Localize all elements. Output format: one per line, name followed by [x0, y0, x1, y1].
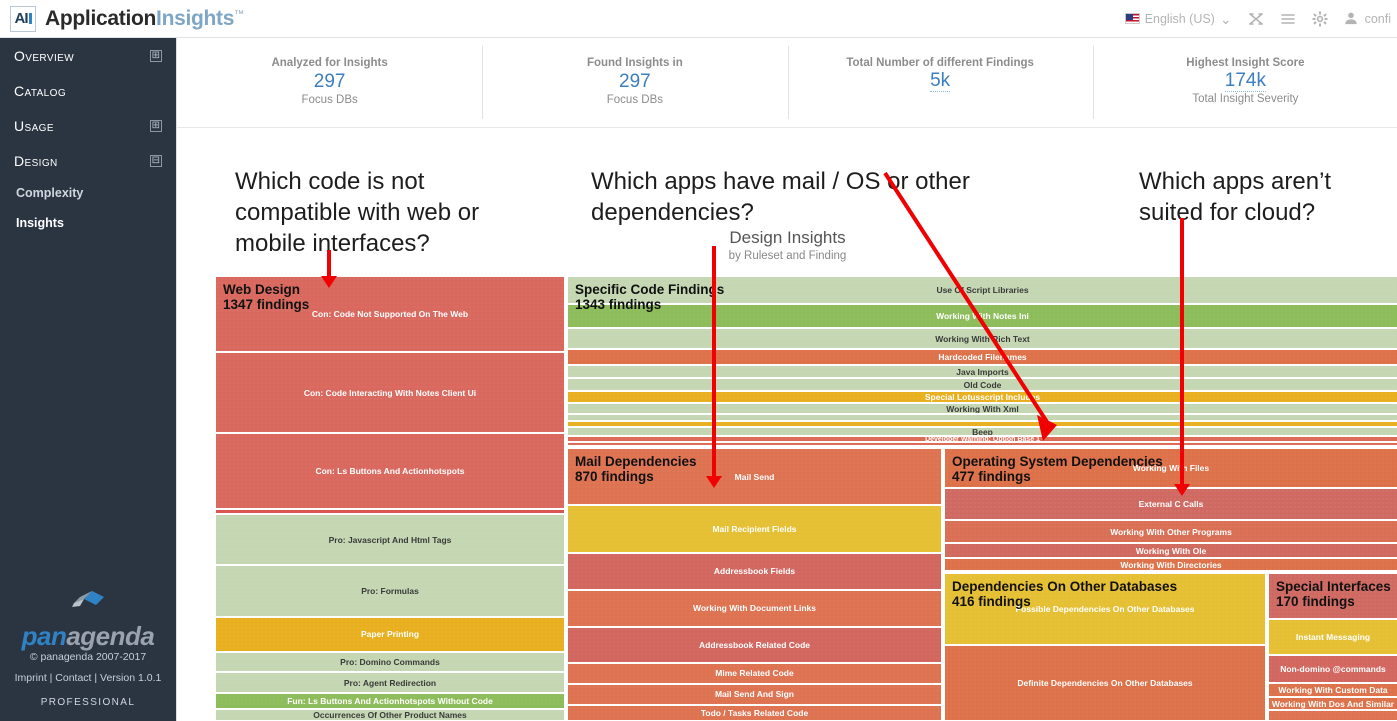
treemap-tile-label: Pro: Formulas — [361, 586, 419, 596]
treemap-tile-label: Pro: Agent Redirection — [344, 678, 436, 688]
treemap-tile-label: Non-domino @commands — [1280, 664, 1386, 674]
sidebar-item-complexity[interactable]: Complexity — [0, 178, 176, 208]
sidebar-item-catalog[interactable]: Catalog — [0, 73, 176, 108]
panagenda-logo-icon — [0, 588, 176, 622]
sidebar-item-design[interactable]: Design ⊟ — [0, 143, 176, 178]
logo-text-primary: Application — [45, 7, 156, 30]
kpi-highest-insight-score: Highest Insight Score 174k Total Insight… — [1093, 38, 1397, 127]
app-logo-icon: AI — [10, 6, 36, 32]
treemap-tile[interactable]: Working With Custom Data — [1268, 683, 1397, 697]
treemap-tile[interactable]: Working With Document Links — [567, 590, 942, 627]
edition-label: PROFESSIONAL — [0, 692, 176, 713]
us-flag-icon — [1125, 13, 1140, 24]
sidebar-item-label: Usage — [14, 118, 54, 134]
panagenda-wordmark: panagenda — [0, 626, 176, 647]
treemap-tile[interactable]: Non-domino @commands — [1268, 655, 1397, 683]
sidebar-item-insights[interactable]: Insights — [0, 208, 176, 238]
treemap-tile-label: Working With Custom Data — [1278, 685, 1387, 695]
treemap-tile-label: Working With Directories — [1120, 560, 1221, 570]
app-logo-text: ApplicationInsights™ — [45, 7, 244, 31]
language-label: English (US) — [1145, 12, 1215, 26]
kpi-value[interactable]: 297 — [177, 71, 482, 93]
kpi-row: Analyzed for Insights 297 Focus DBs Foun… — [177, 38, 1397, 128]
sidebar-item-overview[interactable]: Overview ⊞ — [0, 38, 176, 73]
treemap-tile[interactable]: Todo / Tasks Related Code — [567, 705, 942, 721]
treemap-tile-label: Mail Recipient Fields — [712, 524, 796, 534]
treemap-tile[interactable]: Pro: Formulas — [215, 565, 565, 617]
top-bar-actions: English (US) ⌄ confi — [1125, 11, 1397, 27]
kpi-title: Analyzed for Insights — [177, 57, 482, 69]
annotation-arrow-3 — [1170, 218, 1194, 496]
kpi-subtitle: Focus DBs — [482, 94, 787, 106]
treemap-tile[interactable]: Con: Code Not Supported On The Web — [215, 276, 565, 352]
footer-links[interactable]: Imprint | Contact | Version 1.0.1 — [0, 668, 176, 689]
treemap-tile-label: Con: Ls Buttons And Actionhotspots — [315, 466, 464, 476]
treemap-tile[interactable] — [1268, 710, 1397, 721]
user-label: confi — [1365, 12, 1391, 26]
kpi-value[interactable]: 5k — [930, 71, 950, 92]
treemap-tile[interactable]: Con: Code Interacting With Notes Client … — [215, 352, 565, 434]
treemap-tile[interactable] — [1268, 573, 1397, 619]
sidebar-item-label: Design — [14, 153, 58, 169]
treemap-tile[interactable]: Addressbook Fields — [567, 553, 942, 590]
kpi-subtitle: Total Insight Severity — [1093, 93, 1397, 105]
app-logo[interactable]: AI ApplicationInsights™ — [0, 6, 244, 32]
kpi-title: Total Number of different Findings — [788, 57, 1093, 69]
kpi-total-different-findings: Total Number of different Findings 5k — [788, 38, 1093, 127]
design-insights-treemap[interactable]: Con: Code Not Supported On The WebCon: C… — [215, 238, 1397, 721]
treemap-tile-label: Working With Document Links — [693, 603, 816, 613]
sidebar: Overview ⊞ Catalog Usage ⊞ Design ⊟ Comp… — [0, 38, 176, 721]
treemap-tile[interactable]: Pro: Agent Redirection — [215, 672, 565, 693]
treemap-tile-label: Instant Messaging — [1296, 632, 1370, 642]
treemap-tile[interactable]: Con: Ls Buttons And Actionhotspots — [215, 433, 565, 509]
logo-initials: AI — [15, 10, 28, 27]
treemap-tile[interactable]: Mail Recipient Fields — [567, 505, 942, 553]
kpi-found-insights-in: Found Insights in 297 Focus DBs — [482, 38, 787, 127]
treemap-tile-label: Mail Send — [735, 472, 775, 482]
language-selector[interactable]: English (US) ⌄ — [1125, 12, 1232, 26]
treemap-tile-label: Todo / Tasks Related Code — [701, 708, 808, 718]
treemap-tile-label: Working With Other Programs — [1110, 527, 1232, 537]
treemap-tile-label: Working With Ole — [1136, 546, 1207, 556]
treemap-tile[interactable]: Mail Send And Sign — [567, 684, 942, 705]
kpi-subtitle: Focus DBs — [177, 94, 482, 106]
shuffle-icon[interactable] — [1248, 11, 1264, 27]
main-content: Analyzed for Insights 297 Focus DBs Foun… — [176, 38, 1397, 721]
treemap-tile[interactable]: Working With Ole — [944, 543, 1397, 558]
kpi-value[interactable]: 174k — [1225, 71, 1266, 92]
sidebar-item-usage[interactable]: Usage ⊞ — [0, 108, 176, 143]
treemap-tile[interactable]: Definite Dependencies On Other Databases — [944, 645, 1266, 721]
treemap-tile[interactable]: Mime Related Code — [567, 663, 942, 684]
treemap-tile-label: Pro: Javascript And Html Tags — [329, 535, 452, 545]
treemap-tile[interactable]: Working With Directories — [944, 558, 1397, 571]
treemap-tile[interactable]: Pro: Domino Commands — [215, 652, 565, 673]
user-menu[interactable]: confi — [1344, 11, 1391, 27]
treemap-tile-label: Mime Related Code — [715, 668, 793, 678]
treemap-tile[interactable]: Mail Send — [567, 448, 942, 505]
expand-icon[interactable]: ⊞ — [150, 50, 162, 62]
treemap-tile[interactable]: Working With Dos And Similar — [1268, 697, 1397, 710]
collapse-icon[interactable]: ⊟ — [150, 155, 162, 167]
kpi-value[interactable]: 297 — [482, 71, 787, 93]
sidebar-footer: panagenda © panagenda 2007-2017 Imprint … — [0, 588, 176, 713]
treemap-tile-label: Mail Send And Sign — [715, 689, 794, 699]
kpi-title: Highest Insight Score — [1093, 57, 1397, 69]
kpi-analyzed-for-insights: Analyzed for Insights 297 Focus DBs — [177, 38, 482, 127]
treemap-tile[interactable]: Addressbook Related Code — [567, 627, 942, 663]
sidebar-item-label: Overview — [14, 48, 74, 64]
treemap-tile[interactable]: Occurrences Of Other Product Names — [215, 709, 565, 721]
logo-trademark: ™ — [234, 9, 244, 20]
treemap-tile-label: Con: Code Interacting With Notes Client … — [304, 388, 476, 398]
treemap-tile[interactable]: Possible Dependencies On Other Databases — [944, 573, 1266, 645]
top-bar: AI ApplicationInsights™ English (US) ⌄ — [0, 0, 1397, 38]
treemap-tile[interactable]: Paper Printing — [215, 617, 565, 652]
treemap-tile-label: Fun: Ls Buttons And Actionhotspots Witho… — [287, 696, 493, 706]
menu-icon[interactable] — [1280, 11, 1296, 27]
treemap-tile-label: Addressbook Fields — [714, 566, 795, 576]
treemap-tile-label: Possible Dependencies On Other Databases — [1015, 604, 1194, 614]
expand-icon[interactable]: ⊞ — [150, 120, 162, 132]
treemap-tile-label: Occurrences Of Other Product Names — [313, 710, 467, 720]
treemap-tile[interactable]: Pro: Javascript And Html Tags — [215, 514, 565, 566]
kpi-title: Found Insights in — [482, 57, 787, 69]
treemap-tile[interactable]: Fun: Ls Buttons And Actionhotspots Witho… — [215, 693, 565, 709]
treemap-tile-label: Pro: Domino Commands — [340, 657, 440, 667]
gear-icon[interactable] — [1312, 11, 1328, 27]
treemap-tile[interactable]: Instant Messaging — [1268, 619, 1397, 655]
annotation-arrow-2a — [702, 246, 726, 488]
treemap-tile-label: Con: Code Not Supported On The Web — [312, 309, 468, 319]
annotation-arrow-2b — [877, 173, 1072, 445]
treemap-tile-label: Addressbook Related Code — [699, 640, 810, 650]
annotation-arrow-1 — [317, 250, 341, 288]
treemap-tile-label: Paper Printing — [361, 629, 419, 639]
treemap-tile-label: Definite Dependencies On Other Databases — [1017, 678, 1192, 688]
sidebar-item-label: Catalog — [14, 83, 66, 99]
treemap-tile-label: External C Calls — [1139, 499, 1204, 509]
logo-text-secondary: Insights — [156, 7, 234, 30]
chevron-down-icon: ⌄ — [1220, 16, 1232, 22]
user-icon — [1344, 11, 1360, 27]
treemap-tile[interactable]: Working With Other Programs — [944, 520, 1397, 543]
sidebar-subitem-label: Insights — [16, 216, 64, 230]
sidebar-subitem-label: Complexity — [16, 186, 83, 200]
treemap-tile-label: Working With Dos And Similar — [1272, 699, 1394, 709]
